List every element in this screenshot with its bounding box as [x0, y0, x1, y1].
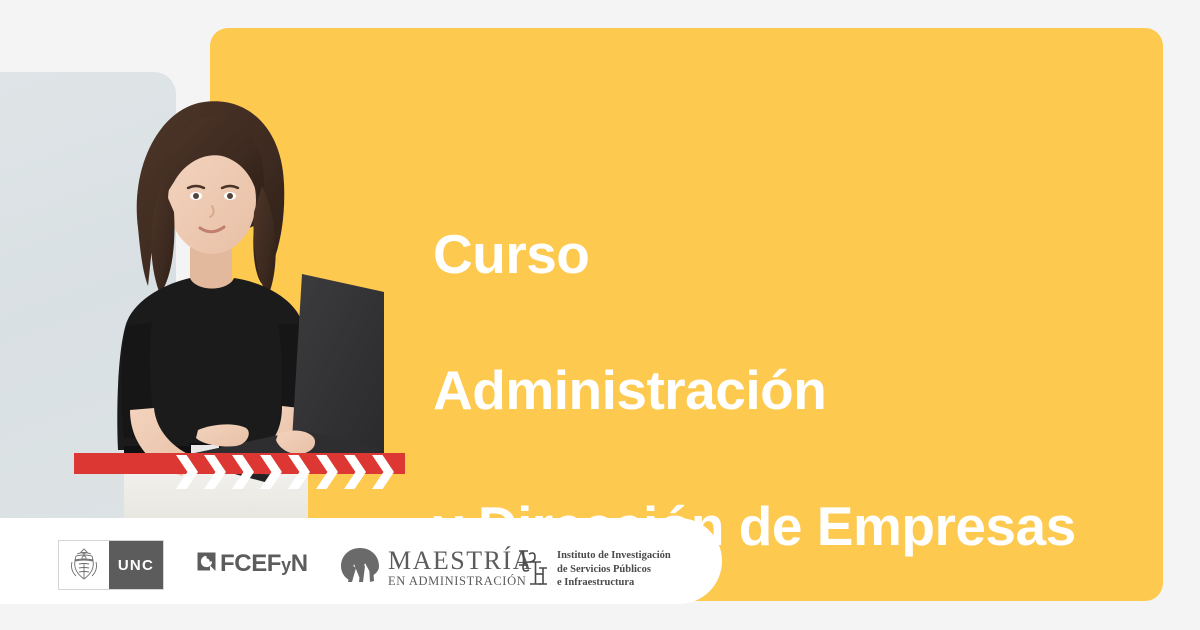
- logo-unc: UNC: [58, 540, 164, 590]
- chevron-right-icon: [316, 455, 338, 489]
- chevron-right-icon: [344, 455, 366, 489]
- hero-title-line-2: Administración: [433, 356, 1133, 424]
- hero-title-line-1: Curso: [433, 220, 1133, 288]
- iispi-text: Instituto de Investigación de Servicios …: [557, 549, 671, 591]
- chevron-right-icon: [288, 455, 310, 489]
- promo-banner: Curso Administración y Dirección de Empr…: [0, 0, 1200, 630]
- chevron-right-icon: [204, 455, 226, 489]
- fcefyn-abbr-label: FCEFyN: [220, 552, 308, 576]
- maestria-fan-icon: [340, 546, 380, 589]
- chevron-right-icon: [372, 455, 394, 489]
- iispi-line-3: e Infraestructura: [557, 576, 671, 590]
- unc-crest-icon: [59, 541, 109, 589]
- iispi-line-1: Instituto de Investigación: [557, 549, 671, 563]
- logo-fcefyn: FCEFyN: [196, 551, 308, 577]
- chevron-right-icon: [232, 455, 254, 489]
- chevron-right-icon: [176, 455, 198, 489]
- logo-maestria: MAESTRÍA EN ADMINISTRACIÓN: [340, 546, 533, 589]
- chevron-right-icon: [260, 455, 282, 489]
- unc-abbr-label: UNC: [109, 541, 163, 589]
- iispi-line-2: de Servicios Públicos: [557, 563, 671, 577]
- maestria-subtitle: EN ADMINISTRACIÓN: [388, 575, 533, 588]
- logo-iispi: Instituto de Investigación de Servicios …: [516, 548, 671, 591]
- maestria-text: MAESTRÍA EN ADMINISTRACIÓN: [388, 548, 533, 588]
- chevron-arrows: [176, 455, 401, 489]
- maestria-title: MAESTRÍA: [388, 548, 533, 574]
- iispi-monogram-icon: [516, 548, 550, 591]
- fcefyn-mark-icon: [196, 551, 217, 577]
